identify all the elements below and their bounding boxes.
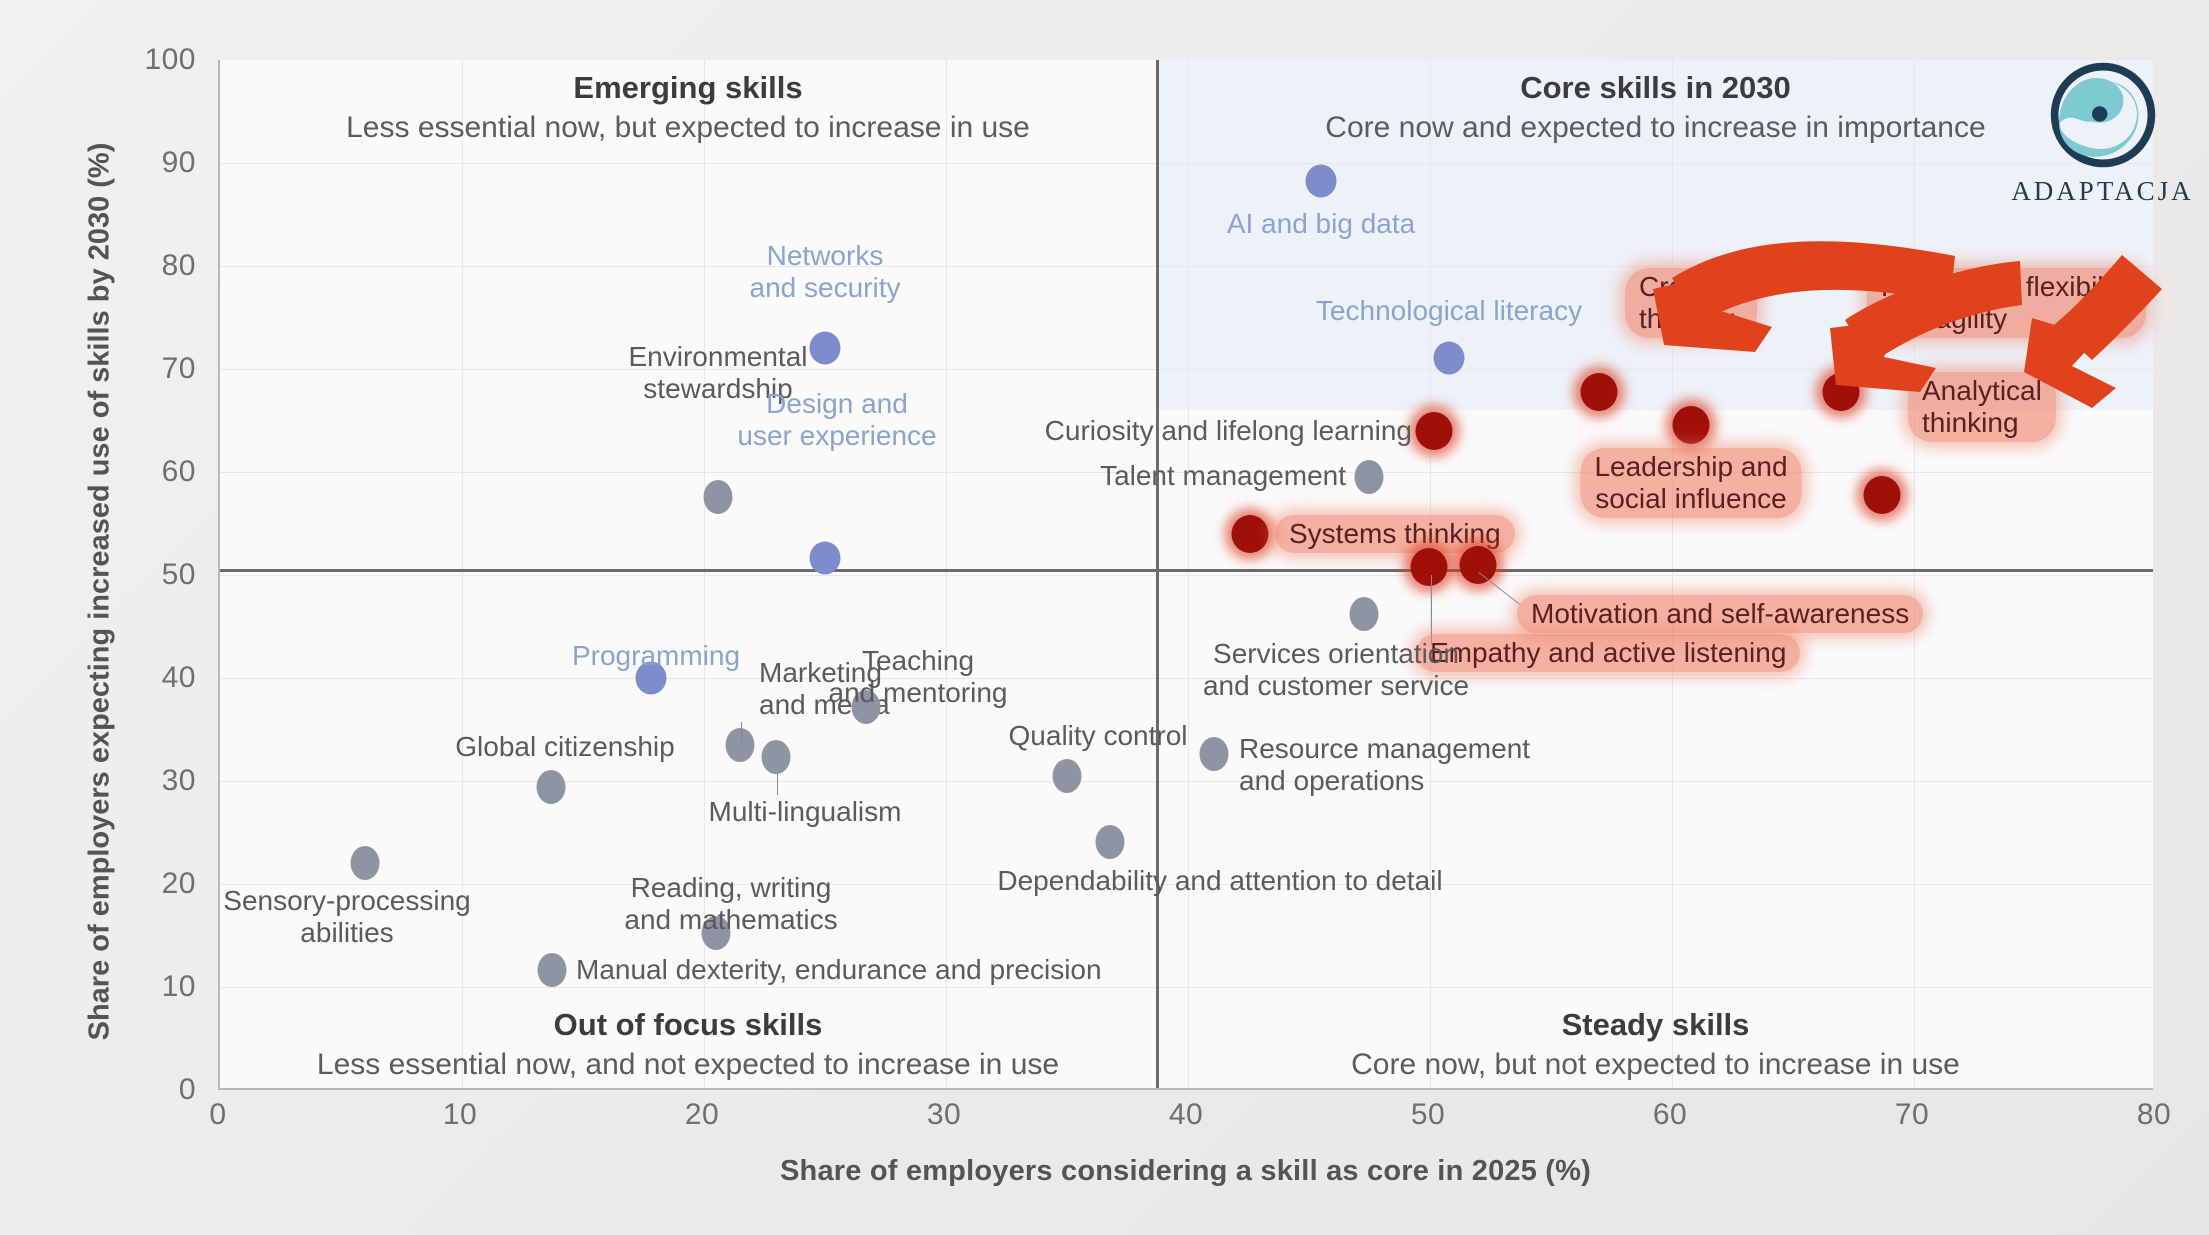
point-label-line1: Design and	[766, 388, 908, 419]
point-label-line1: Sensory-processing	[223, 885, 470, 916]
chart-figure: Emerging skills Less essential now, but …	[0, 0, 2209, 1235]
y-axis-tick: 50	[162, 558, 196, 592]
gridline-y-70	[220, 369, 2153, 370]
quadrant-title: Out of focus skills	[220, 1006, 1156, 1045]
point-label-line1: Analytical	[1922, 375, 2042, 406]
data-point[interactable]	[1823, 373, 1860, 411]
x-axis-tick: 40	[1169, 1098, 1203, 1132]
point-label: Dependability and attention to detail	[997, 865, 1442, 897]
point-label-line2: stewardship	[643, 373, 792, 404]
data-point[interactable]	[1350, 597, 1379, 631]
wave-spiral-icon	[2048, 60, 2158, 170]
quadrant-divider-vertical	[1156, 60, 1159, 1088]
gridline-y-30	[220, 781, 2153, 782]
point-label-line2: social influence	[1595, 483, 1786, 514]
point-label: Resilience, flexibility and agility	[1867, 268, 2146, 338]
point-label-line2: and agility	[1881, 303, 2007, 334]
core-skills-quadrant-shading	[1156, 60, 2153, 410]
quadrant-label-emerging: Emerging skills Less essential now, but …	[220, 69, 1156, 147]
point-label: Design and user experience	[737, 388, 936, 452]
point-label: Motivation and self-awareness	[1517, 595, 1923, 633]
data-point[interactable]	[1096, 825, 1125, 859]
quadrant-label-steady: Steady skills Core now, but not expected…	[1156, 1006, 2155, 1084]
point-label-line1: Marketing	[759, 657, 882, 688]
data-point[interactable]	[762, 740, 791, 774]
quadrant-label-out-of-focus: Out of focus skills Less essential now, …	[220, 1006, 1156, 1084]
point-label-line2: user experience	[737, 420, 936, 451]
data-point[interactable]	[810, 332, 841, 365]
point-label: Global citizenship	[455, 731, 674, 763]
y-axis-tick: 100	[144, 43, 196, 77]
x-axis-tick: 10	[443, 1098, 477, 1132]
quadrant-title: Steady skills	[1156, 1006, 2155, 1045]
point-label-line1: Reading, writing	[631, 872, 832, 903]
data-point[interactable]	[1306, 165, 1337, 198]
point-label: Environmental stewardship	[629, 341, 808, 405]
point-label: Analytical thinking	[1908, 372, 2056, 442]
data-point[interactable]	[810, 542, 841, 575]
gridline-x-40	[1188, 60, 1189, 1088]
brand-name: ADAPTACJA	[2010, 176, 2195, 207]
point-label: Leadership and social influence	[1580, 448, 1801, 518]
x-axis-tick: 20	[685, 1098, 719, 1132]
gridline-y-80	[220, 266, 2153, 267]
gridline-x-10	[462, 60, 463, 1088]
point-label: Networks and security	[750, 240, 901, 304]
gridline-x-60	[1672, 60, 1673, 1088]
data-point[interactable]	[538, 953, 567, 987]
data-point[interactable]	[1416, 412, 1453, 450]
y-axis-tick: 10	[162, 970, 196, 1004]
x-axis-tick: 60	[1653, 1098, 1687, 1132]
quadrant-subtitle: Less essential now, and not expected to …	[220, 1045, 1156, 1084]
data-point[interactable]	[1673, 406, 1710, 444]
point-label-line1: Leadership and	[1594, 451, 1787, 482]
gridline-y-10	[220, 987, 2153, 988]
point-label: Sensory-processing abilities	[223, 885, 470, 949]
gridline-y-40	[220, 678, 2153, 679]
gridline-y-90	[220, 163, 2153, 164]
data-point[interactable]	[1053, 759, 1082, 793]
point-label-line1: Environmental	[629, 341, 808, 372]
point-label-line2: thinking	[1922, 407, 2019, 438]
data-point[interactable]	[1232, 515, 1269, 553]
gridline-y-20	[220, 884, 2153, 885]
data-point[interactable]	[1355, 460, 1384, 494]
data-point[interactable]	[351, 846, 380, 880]
point-label: Reading, writing and mathematics	[624, 872, 837, 936]
point-label-line1: Resilience, flexibility	[1881, 271, 2132, 302]
quadrant-subtitle: Less essential now, but expected to incr…	[220, 108, 1156, 147]
gridline-x-30	[946, 60, 947, 1088]
leader-line	[1478, 572, 1520, 605]
quadrant-title: Emerging skills	[220, 69, 1156, 108]
data-point[interactable]	[636, 662, 667, 695]
data-point[interactable]	[852, 690, 881, 724]
point-label: Curiosity and lifelong learning	[1045, 415, 1412, 447]
point-label-line2: abilities	[300, 917, 393, 948]
y-axis-tick: 60	[162, 455, 196, 489]
leader-line	[741, 722, 742, 744]
point-label: Resource management and operations	[1239, 733, 1530, 797]
data-point[interactable]	[704, 480, 733, 514]
point-label: Empathy and active listening	[1416, 634, 1800, 672]
y-axis-tick: 0	[179, 1073, 196, 1107]
quadrant-divider-horizontal	[220, 569, 2153, 572]
point-label-line1: Creative	[1639, 271, 1743, 302]
data-point[interactable]	[1460, 546, 1497, 584]
data-point[interactable]	[1864, 476, 1901, 514]
point-label-line2: thinking	[1639, 303, 1736, 334]
gridline-y-60	[220, 472, 2153, 473]
point-label: Quality control	[1009, 720, 1188, 752]
leader-line	[777, 773, 778, 795]
point-label: Technological literacy	[1316, 295, 1582, 327]
data-point[interactable]	[537, 770, 566, 804]
x-axis-tick: 80	[2137, 1098, 2171, 1132]
data-point[interactable]	[1411, 548, 1448, 586]
point-label: Manual dexterity, endurance and precisio…	[576, 954, 1102, 986]
plot-area: Emerging skills Less essential now, but …	[218, 60, 2153, 1090]
y-axis-tick: 30	[162, 764, 196, 798]
gridline-x-70	[1914, 60, 1915, 1088]
x-axis-tick: 0	[209, 1098, 226, 1132]
quadrant-title: Core skills in 2030	[1156, 69, 2155, 108]
point-label-line2: and mathematics	[624, 904, 837, 935]
y-axis-tick: 20	[162, 867, 196, 901]
y-axis-tick: 90	[162, 146, 196, 180]
data-point[interactable]	[1200, 737, 1229, 771]
x-axis-tick: 30	[927, 1098, 961, 1132]
y-axis-tick: 40	[162, 661, 196, 695]
point-label-line2: and security	[750, 272, 901, 303]
leader-line	[1431, 575, 1432, 645]
quadrant-subtitle: Core now, but not expected to increase i…	[1156, 1045, 2155, 1084]
point-label-line1: Teaching	[862, 645, 974, 676]
x-axis-title: Share of employers considering a skill a…	[218, 1155, 2153, 1188]
point-label-line1: Resource management	[1239, 733, 1530, 764]
y-axis-title: Share of employers expecting increased u…	[84, 62, 117, 1122]
quadrant-label-core-2030: Core skills in 2030 Core now and expecte…	[1156, 69, 2155, 147]
y-axis-tick: 70	[162, 352, 196, 386]
data-point[interactable]	[1581, 373, 1618, 411]
data-point[interactable]	[1434, 342, 1465, 375]
x-axis-tick: 70	[1895, 1098, 1929, 1132]
quadrant-subtitle: Core now and expected to increase in imp…	[1156, 108, 2155, 147]
point-label: Creative thinking	[1625, 268, 1757, 338]
gridline-y-50	[220, 575, 2153, 576]
data-point[interactable]	[726, 728, 755, 762]
point-label: Multi-lingualism	[709, 796, 902, 828]
data-point[interactable]	[702, 916, 731, 950]
y-axis-tick: 80	[162, 249, 196, 283]
point-label: AI and big data	[1227, 208, 1415, 240]
x-axis-tick: 50	[1411, 1098, 1445, 1132]
brand-logo: ADAPTACJA	[2010, 60, 2195, 207]
point-label-line1: Services orientation	[1213, 638, 1459, 669]
point-label: Talent management	[1100, 460, 1346, 492]
